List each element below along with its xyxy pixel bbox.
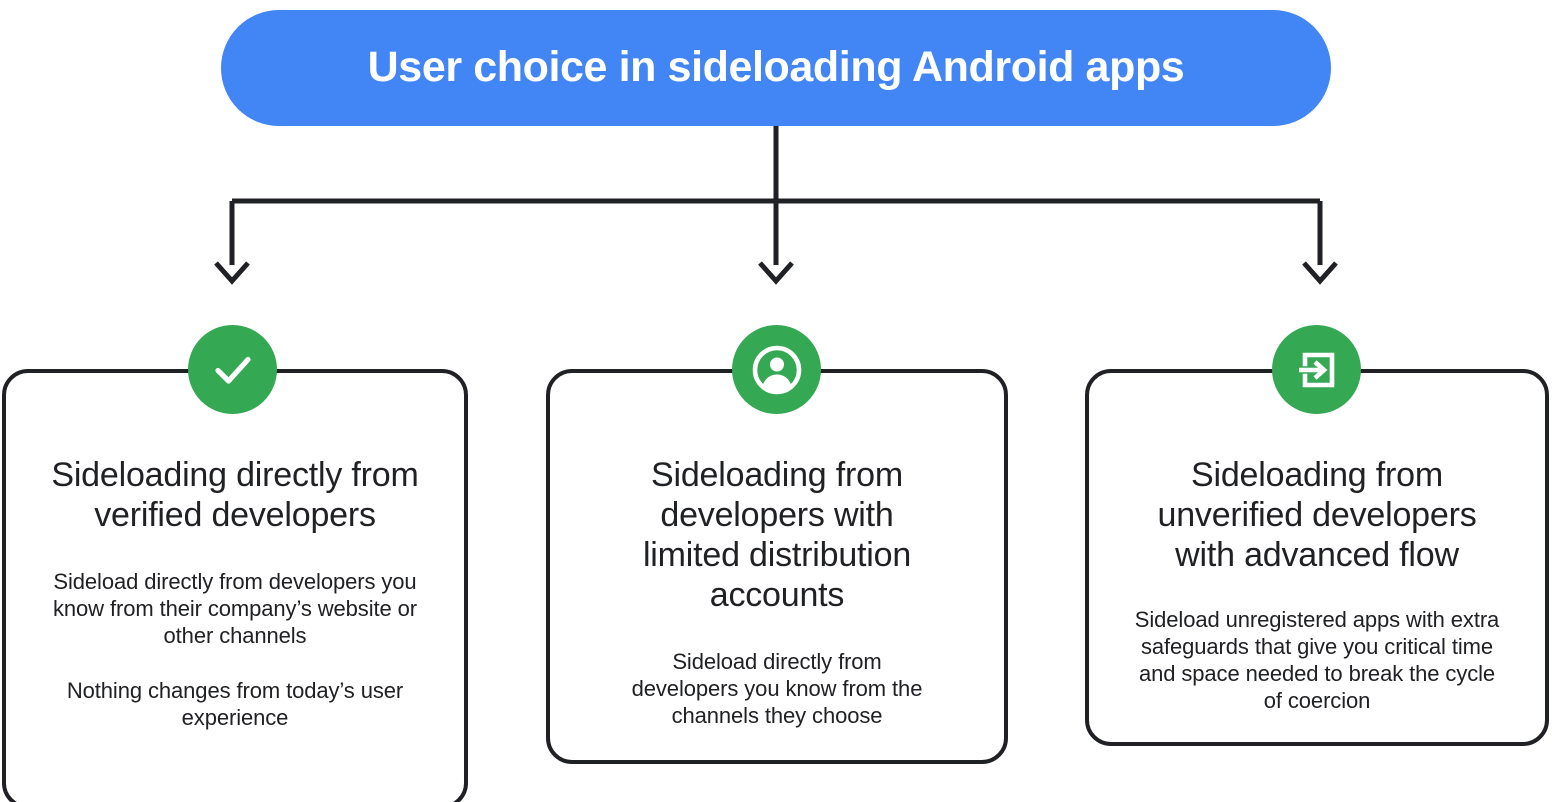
branch-card-limited-distribution: Sideloading from developers with limited…: [546, 369, 1008, 764]
branch-card-title: Sideloading from unverified developers w…: [1132, 455, 1502, 575]
branch-card-body-secondary: Nothing changes from today’s user experi…: [55, 678, 415, 732]
branch-icon-badge-verified: [188, 325, 277, 414]
account-circle-icon: [749, 342, 805, 398]
login-arrow-icon: [1291, 344, 1343, 396]
branch-card-title: Sideloading from developers with limited…: [612, 455, 942, 615]
branch-icon-badge-advanced-flow: [1272, 325, 1361, 414]
arrowhead-center-icon: [760, 263, 792, 281]
branch-card-body-primary: Sideload directly from developers you kn…: [35, 569, 435, 649]
branch-card-body-primary: Sideload directly from developers you kn…: [627, 649, 927, 729]
diagram-canvas: User choice in sideloading Android apps …: [0, 0, 1552, 802]
branch-card-body-primary: Sideload unregistered apps with extra sa…: [1127, 607, 1507, 714]
branch-card-unverified-developers: Sideloading from unverified developers w…: [1085, 369, 1549, 746]
branch-card-verified-developers: Sideloading directly from verified devel…: [2, 369, 468, 802]
arrowhead-left-icon: [216, 263, 248, 281]
root-node-label: User choice in sideloading Android apps: [368, 44, 1185, 91]
check-icon: [207, 344, 259, 396]
root-node-pill: User choice in sideloading Android apps: [221, 10, 1331, 126]
arrowhead-right-icon: [1304, 263, 1336, 281]
branch-icon-badge-account: [732, 325, 821, 414]
branch-card-title: Sideloading directly from verified devel…: [45, 455, 425, 535]
